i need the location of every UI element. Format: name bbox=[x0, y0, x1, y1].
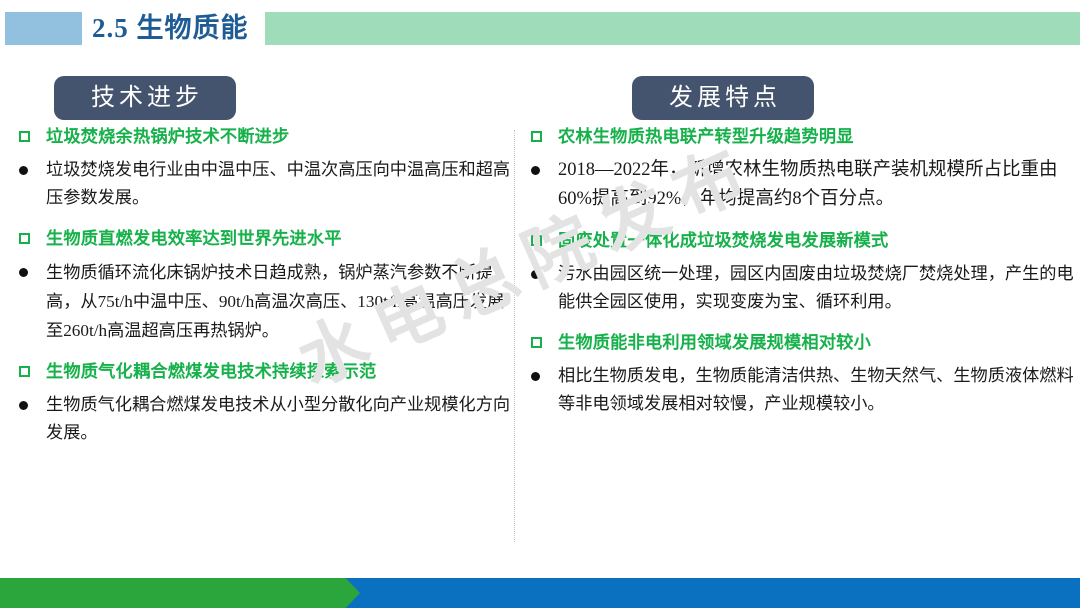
column-technology-progress: 技术进步 垃圾焚烧余热锅炉技术不断进步 垃圾焚烧发电行业由中温中压、中温次高压向… bbox=[10, 58, 510, 548]
block-heading-text: 生物质气化耦合燃煤发电技术持续探索示范 bbox=[46, 362, 376, 382]
bullet-text: 生物质循环流化床锅炉技术日趋成熟，锅炉蒸汽参数不断提高，从75t/h中温中压、9… bbox=[46, 263, 504, 340]
slide-header: 2.5 生物质能 bbox=[0, 0, 1080, 58]
section-badge-technology-progress: 技术进步 bbox=[54, 76, 236, 120]
pill-row-right: 发展特点 bbox=[522, 58, 1070, 120]
round-bullet-icon bbox=[19, 268, 28, 277]
round-bullet-icon bbox=[531, 270, 540, 279]
bullet-text: 垃圾焚烧发电行业由中温中压、中温次高压向中温高压和超高压参数发展。 bbox=[46, 160, 510, 208]
square-bullet-icon bbox=[531, 337, 542, 348]
block-left-2: 生物质直燃发电效率达到世界先进水平 生物质循环流化床锅炉技术日趋成熟，锅炉蒸汽参… bbox=[10, 226, 510, 345]
bullet-item: 生物质气化耦合燃煤发电技术从小型分散化向产业规模化方向发展。 bbox=[10, 391, 516, 447]
pill-row-left: 技术进步 bbox=[10, 58, 510, 120]
slide-root: 2.5 生物质能 技术进步 垃圾焚烧余热锅炉技术不断进步 垃圾焚烧发电行业由中温… bbox=[0, 0, 1080, 608]
block-right-2: 固废处置一体化成垃圾焚烧发电发展新模式 污水由园区统一处理，园区内固废由垃圾焚烧… bbox=[522, 228, 1070, 316]
bullet-item: 垃圾焚烧发电行业由中温中压、中温次高压向中温高压和超高压参数发展。 bbox=[10, 156, 516, 212]
block-left-3: 生物质气化耦合燃煤发电技术持续探索示范 生物质气化耦合燃煤发电技术从小型分散化向… bbox=[10, 359, 510, 447]
column-development-features: 发展特点 农林生物质热电联产转型升级趋势明显 2018—2022年，新增农林生物… bbox=[522, 58, 1070, 548]
header-blue-accent-block bbox=[5, 12, 82, 45]
block-heading-text: 垃圾焚烧余热锅炉技术不断进步 bbox=[46, 127, 289, 147]
block-heading: 垃圾焚烧余热锅炉技术不断进步 bbox=[10, 124, 510, 150]
bullet-text: 污水由园区统一处理，园区内固废由垃圾焚烧厂焚烧处理，产生的电能供全园区使用，实现… bbox=[558, 264, 1074, 312]
block-heading-text: 农林生物质热电联产转型升级趋势明显 bbox=[558, 127, 854, 147]
round-bullet-icon bbox=[531, 166, 540, 175]
block-right-1: 农林生物质热电联产转型升级趋势明显 2018—2022年，新增农林生物质热电联产… bbox=[522, 124, 1070, 214]
round-bullet-icon bbox=[19, 166, 28, 175]
bullet-text: 生物质气化耦合燃煤发电技术从小型分散化向产业规模化方向发展。 bbox=[46, 395, 510, 443]
block-heading-text: 生物质直燃发电效率达到世界先进水平 bbox=[46, 229, 342, 249]
bullet-text: 相比生物质发电，生物质能清洁供热、生物天然气、生物质液体燃料等非电领域发展相对较… bbox=[558, 366, 1074, 414]
block-heading: 生物质能非电利用领域发展规模相对较小 bbox=[522, 330, 1070, 356]
square-bullet-icon bbox=[19, 131, 30, 142]
bullet-item: 相比生物质发电，生物质能清洁供热、生物天然气、生物质液体燃料等非电领域发展相对较… bbox=[522, 362, 1078, 418]
bullet-item: 污水由园区统一处理，园区内固废由垃圾焚烧厂焚烧处理，产生的电能供全园区使用，实现… bbox=[522, 260, 1078, 316]
bullet-item: 2018—2022年，新增农林生物质热电联产装机规模所占比重由60%提高到92%… bbox=[522, 156, 1078, 214]
footer-green-chevron bbox=[0, 578, 360, 608]
block-heading-text: 固废处置一体化成垃圾焚烧发电发展新模式 bbox=[558, 231, 888, 251]
section-badge-development-features: 发展特点 bbox=[632, 76, 814, 120]
content-columns: 技术进步 垃圾焚烧余热锅炉技术不断进步 垃圾焚烧发电行业由中温中压、中温次高压向… bbox=[0, 58, 1080, 548]
block-heading: 农林生物质热电联产转型升级趋势明显 bbox=[522, 124, 1070, 150]
bullet-item: 生物质循环流化床锅炉技术日趋成熟，锅炉蒸汽参数不断提高，从75t/h中温中压、9… bbox=[10, 258, 516, 345]
block-heading: 固废处置一体化成垃圾焚烧发电发展新模式 bbox=[522, 228, 1070, 254]
square-bullet-icon bbox=[531, 131, 542, 142]
square-bullet-icon bbox=[19, 233, 30, 244]
slide-footer bbox=[0, 578, 1080, 608]
square-bullet-icon bbox=[531, 235, 542, 246]
block-right-3: 生物质能非电利用领域发展规模相对较小 相比生物质发电，生物质能清洁供热、生物天然… bbox=[522, 330, 1070, 418]
page-title: 2.5 生物质能 bbox=[92, 8, 249, 48]
block-heading-text: 生物质能非电利用领域发展规模相对较小 bbox=[558, 333, 871, 353]
block-left-1: 垃圾焚烧余热锅炉技术不断进步 垃圾焚烧发电行业由中温中压、中温次高压向中温高压和… bbox=[10, 124, 510, 212]
bullet-text: 2018—2022年，新增农林生物质热电联产装机规模所占比重由60%提高到92%… bbox=[558, 160, 1058, 209]
header-green-accent-block bbox=[265, 12, 1080, 45]
round-bullet-icon bbox=[531, 372, 540, 381]
square-bullet-icon bbox=[19, 366, 30, 377]
block-heading: 生物质直燃发电效率达到世界先进水平 bbox=[10, 226, 510, 252]
block-heading: 生物质气化耦合燃煤发电技术持续探索示范 bbox=[10, 359, 510, 385]
round-bullet-icon bbox=[19, 401, 28, 410]
